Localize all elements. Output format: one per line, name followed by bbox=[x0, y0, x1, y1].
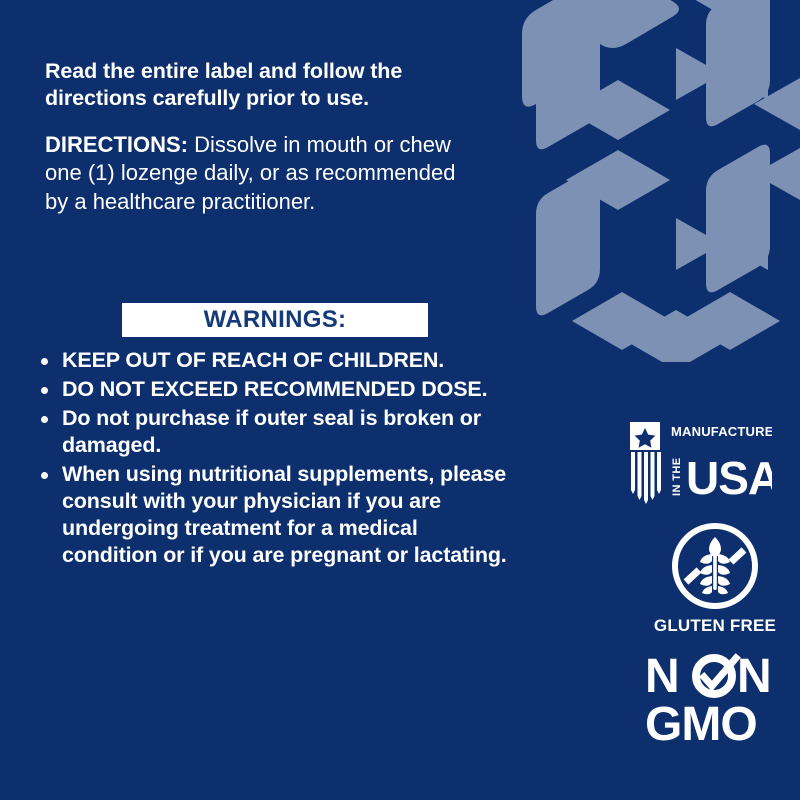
non-gmo-line2: GMO bbox=[645, 698, 757, 744]
warning-list-item: DO NOT EXCEED RECOMMENDED DOSE. bbox=[36, 376, 516, 403]
bullet-dot-icon bbox=[41, 416, 48, 423]
non-gmo-line1-left: N bbox=[645, 650, 679, 703]
warning-item-text: KEEP OUT OF REACH OF CHILDREN. bbox=[62, 348, 444, 372]
warning-list-item: KEEP OUT OF REACH OF CHILDREN. bbox=[36, 347, 516, 374]
bullet-dot-icon bbox=[41, 358, 48, 365]
warnings-header-box: WARNINGS: bbox=[122, 303, 428, 337]
warning-list-item: When using nutritional supplements, plea… bbox=[36, 461, 516, 569]
non-gmo-badge: N N GMO bbox=[630, 650, 800, 744]
directions-paragraph: DIRECTIONS: Dissolve in mouth or chew on… bbox=[45, 131, 470, 217]
bullet-dot-icon bbox=[41, 472, 48, 479]
warning-item-text: Do not purchase if outer seal is broken … bbox=[62, 406, 481, 457]
usa-badge-line3: USA bbox=[686, 452, 772, 504]
warning-list-item: Do not purchase if outer seal is broken … bbox=[36, 405, 516, 459]
bullet-dot-icon bbox=[41, 387, 48, 394]
usa-badge-line1: MANUFACTURED bbox=[671, 424, 772, 439]
supplement-label-panel: Read the entire label and follow the dir… bbox=[0, 0, 800, 800]
label-text-column: Read the entire label and follow the dir… bbox=[45, 58, 515, 216]
warnings-header-label: WARNINGS: bbox=[204, 308, 347, 332]
usa-badge-line2: IN THE bbox=[671, 458, 683, 496]
directions-label: DIRECTIONS: bbox=[45, 132, 188, 157]
warning-item-text: DO NOT EXCEED RECOMMENDED DOSE. bbox=[62, 377, 487, 401]
manufactured-in-usa-badge: MANUFACTURED IN THE USA bbox=[612, 420, 800, 506]
gluten-free-badge: GLUTEN FREE bbox=[630, 520, 800, 634]
warning-item-text: When using nutritional supplements, plea… bbox=[62, 462, 507, 567]
warnings-list: KEEP OUT OF REACH OF CHILDREN. DO NOT EX… bbox=[36, 347, 516, 571]
non-gmo-line1-right: N bbox=[737, 650, 771, 703]
certification-badge-column: MANUFACTURED IN THE USA bbox=[612, 420, 800, 744]
hexagon-pattern-decoration bbox=[500, 0, 800, 362]
intro-instruction-text: Read the entire label and follow the dir… bbox=[45, 58, 475, 113]
gluten-free-label: GLUTEN FREE bbox=[630, 617, 800, 634]
gluten-free-icon bbox=[669, 520, 761, 612]
